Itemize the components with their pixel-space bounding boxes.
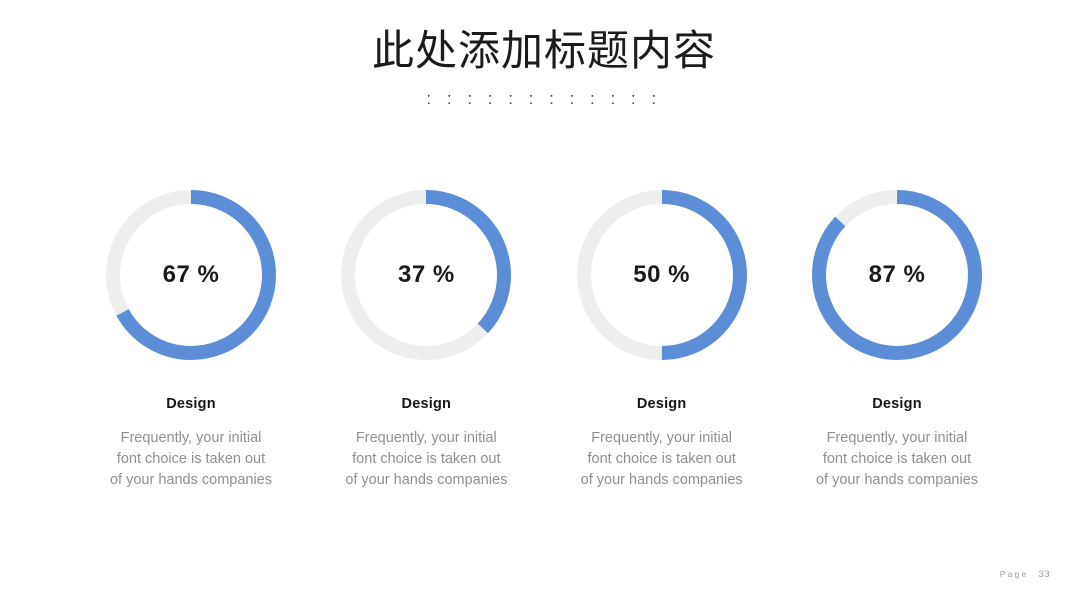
- caption-body-3: Frequently, your initial font choice is …: [581, 428, 743, 491]
- slide-header: 此处添加标题内容 : : : : : : : : : : : :: [0, 26, 1088, 107]
- caption-line: font choice is taken out: [816, 449, 978, 470]
- chart-column-1: 67 % Design Frequently, your initial fon…: [75, 190, 307, 491]
- caption-title-4: Design: [872, 396, 922, 412]
- caption-line: Frequently, your initial: [581, 428, 743, 449]
- donut-value-label-3: 50 %: [577, 190, 747, 360]
- caption-line: of your hands companies: [345, 470, 507, 491]
- chart-column-3: 50 % Design Frequently, your initial fon…: [546, 190, 778, 491]
- caption-line: Frequently, your initial: [110, 428, 272, 449]
- caption-title-2: Design: [402, 396, 452, 412]
- caption-line: font choice is taken out: [110, 449, 272, 470]
- subtitle-dots: : : : : : : : : : : : :: [0, 90, 1088, 107]
- page-title: 此处添加标题内容: [0, 26, 1088, 76]
- caption-line: font choice is taken out: [581, 449, 743, 470]
- caption-body-2: Frequently, your initial font choice is …: [345, 428, 507, 491]
- slide-canvas: 此处添加标题内容 : : : : : : : : : : : : 67 % De…: [0, 0, 1088, 612]
- caption-title-3: Design: [637, 396, 687, 412]
- chart-column-4: 87 % Design Frequently, your initial fon…: [781, 190, 1013, 491]
- page-indicator: Page 33: [1000, 569, 1050, 580]
- chart-column-2: 37 % Design Frequently, your initial fon…: [310, 190, 542, 491]
- caption-line: of your hands companies: [581, 470, 743, 491]
- donut-chart-4[interactable]: 87 %: [812, 190, 982, 360]
- caption-title-1: Design: [166, 396, 216, 412]
- page-number: 33: [1038, 569, 1050, 580]
- caption-line: Frequently, your initial: [816, 428, 978, 449]
- donut-chart-row: 67 % Design Frequently, your initial fon…: [75, 190, 1013, 491]
- caption-body-4: Frequently, your initial font choice is …: [816, 428, 978, 491]
- donut-value-label-2: 37 %: [341, 190, 511, 360]
- donut-chart-2[interactable]: 37 %: [341, 190, 511, 360]
- donut-chart-1[interactable]: 67 %: [106, 190, 276, 360]
- caption-line: Frequently, your initial: [345, 428, 507, 449]
- donut-value-label-4: 87 %: [812, 190, 982, 360]
- caption-line: font choice is taken out: [345, 449, 507, 470]
- donut-value-label-1: 67 %: [106, 190, 276, 360]
- page-label: Page: [1000, 569, 1029, 579]
- caption-line: of your hands companies: [816, 470, 978, 491]
- caption-line: of your hands companies: [110, 470, 272, 491]
- donut-chart-3[interactable]: 50 %: [577, 190, 747, 360]
- caption-body-1: Frequently, your initial font choice is …: [110, 428, 272, 491]
